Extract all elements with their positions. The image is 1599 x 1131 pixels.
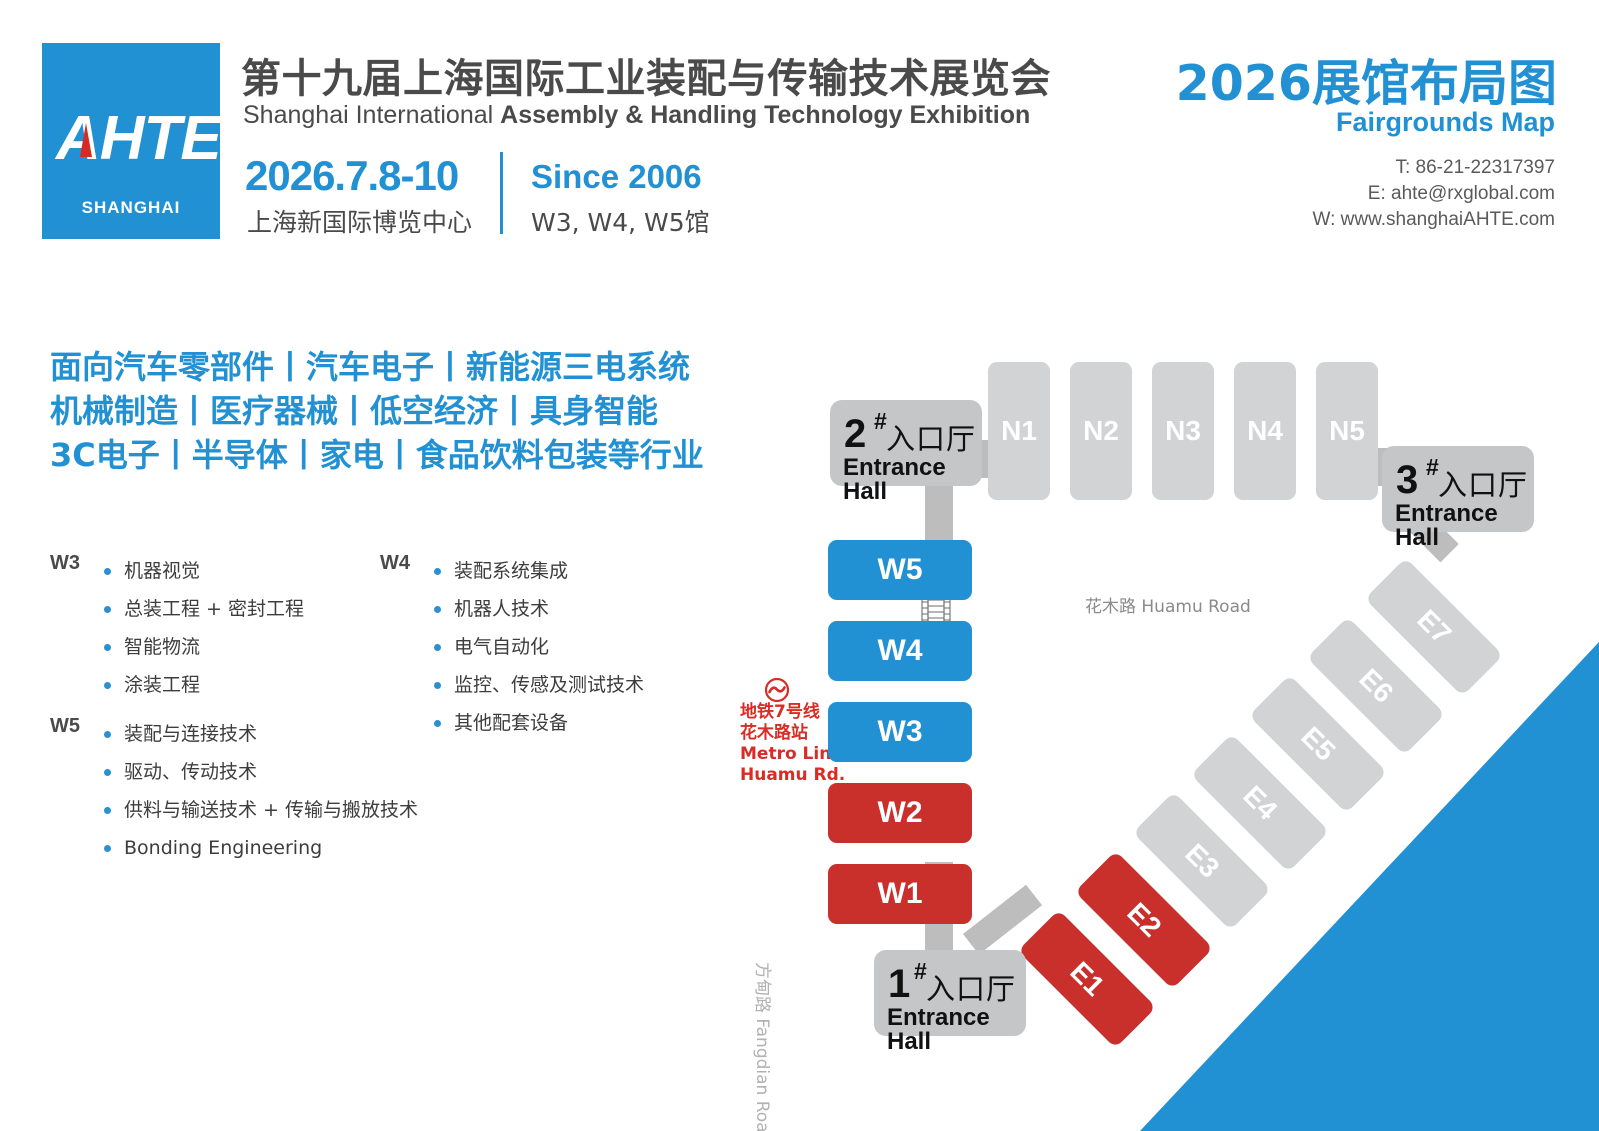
- hall-e1-label: E1: [1064, 956, 1111, 1003]
- hall-e2-label: E2: [1121, 897, 1168, 944]
- entrance-hall-2-label-en: Entrance Hall: [843, 456, 982, 504]
- hall-w1[interactable]: W1: [828, 864, 972, 924]
- hall-e3-label: E3: [1179, 838, 1226, 885]
- hall-n1-label: N1: [1001, 415, 1037, 447]
- ahte-logo-triangle-icon: [80, 123, 92, 157]
- hall-n5[interactable]: N5: [1316, 362, 1378, 500]
- fairgrounds-map: 地铁7号线 花木路站 Metro Line 7 Huamu Rd. 浦东嘉里大酒…: [0, 262, 1599, 1131]
- entrance-hall-3[interactable]: 3 # 入口厅 Entrance Hall: [1382, 446, 1534, 532]
- hall-w2-label: W2: [878, 796, 923, 830]
- metro-logo-icon: [765, 678, 789, 702]
- hall-n5-label: N5: [1329, 415, 1365, 447]
- entrance-hall-2-hash: #: [874, 410, 887, 433]
- hall-w5[interactable]: W5: [828, 540, 972, 600]
- hall-n3[interactable]: N3: [1152, 362, 1214, 500]
- entrance-hall-2-number: 2: [844, 414, 866, 454]
- map-title-en: Fairgrounds Map: [1336, 107, 1555, 138]
- page-title-en-bold: Assembly & Handling Technology Exhibitio…: [500, 101, 1030, 129]
- hall-n1[interactable]: N1: [988, 362, 1050, 500]
- entrance-hall-1-label-en: Entrance Hall: [887, 1006, 1026, 1054]
- page-title-en-plain: Shanghai International: [243, 101, 500, 129]
- ahte-logo-wordmark: AHTE: [56, 103, 206, 175]
- entrance-hall-3-number: 3: [1396, 460, 1418, 500]
- hall-w1-label: W1: [878, 877, 923, 911]
- contact-web[interactable]: W: www.shanghaiAHTE.com: [1312, 207, 1555, 233]
- entrance-hall-1-hash: #: [914, 960, 927, 983]
- road-label-huamu: 花木路 Huamu Road: [1085, 592, 1251, 617]
- hall-w3-label: W3: [878, 715, 923, 749]
- ahte-logo-city: SHANGHAI: [42, 198, 220, 218]
- entrance-hall-3-label-en: Entrance Hall: [1395, 502, 1534, 550]
- entrance-hall-2-label-cn: 入口厅: [886, 424, 976, 454]
- hall-n3-label: N3: [1165, 415, 1201, 447]
- ahte-logo: AHTE SHANGHAI: [42, 43, 220, 239]
- entrance-hall-3-label-cn: 入口厅: [1438, 470, 1528, 500]
- hall-e4-label: E4: [1237, 780, 1284, 827]
- map-title-cn: 2026展馆布局图: [1176, 44, 1557, 115]
- hall-w4-label: W4: [878, 634, 923, 668]
- header-halls-line: W3, W4, W5馆: [531, 203, 710, 239]
- fairgrounds-map-poster: AHTE SHANGHAI 第十九届上海国际工业装配与传输技术展览会 Shang…: [0, 0, 1599, 1131]
- hall-w5-label: W5: [878, 553, 923, 587]
- contact-email[interactable]: E: ahte@rxglobal.com: [1312, 181, 1555, 207]
- hall-e6-label: E6: [1353, 663, 1400, 710]
- hall-w3[interactable]: W3: [828, 702, 972, 762]
- hall-n4[interactable]: N4: [1234, 362, 1296, 500]
- road-label-fangdian: 方甸路 Fangdian Road: [752, 962, 777, 1131]
- entrance-hall-2[interactable]: 2 # 入口厅 Entrance Hall: [830, 400, 982, 486]
- entrance-hall-1-number: 1: [888, 964, 910, 1004]
- event-venue: 上海新国际博览中心: [247, 203, 472, 239]
- since-label: Since 2006: [531, 158, 702, 196]
- hall-w2[interactable]: W2: [828, 783, 972, 843]
- hall-n2-label: N2: [1083, 415, 1119, 447]
- hall-w4[interactable]: W4: [828, 621, 972, 681]
- hall-e5-label: E5: [1295, 721, 1342, 768]
- event-dates: 2026.7.8-10: [245, 152, 458, 200]
- page-title-en: Shanghai International Assembly & Handli…: [243, 101, 1030, 130]
- hall-e7-label: E7: [1411, 604, 1458, 651]
- decorative-blue-corner: [1100, 642, 1599, 1131]
- entrance-hall-1[interactable]: 1 # 入口厅 Entrance Hall: [874, 950, 1026, 1036]
- entrance-hall-3-hash: #: [1426, 456, 1439, 479]
- header-divider: [500, 152, 503, 234]
- poster-header: AHTE SHANGHAI 第十九届上海国际工业装配与传输技术展览会 Shang…: [0, 0, 1599, 262]
- contact-tel: T: 86-21-22317397: [1312, 155, 1555, 181]
- contact-block: T: 86-21-22317397 E: ahte@rxglobal.com W…: [1312, 155, 1555, 233]
- hall-n2[interactable]: N2: [1070, 362, 1132, 500]
- entrance-hall-1-label-cn: 入口厅: [926, 974, 1016, 1004]
- page-title-cn: 第十九届上海国际工业装配与传输技术展览会: [241, 46, 1051, 104]
- hall-n4-label: N4: [1247, 415, 1283, 447]
